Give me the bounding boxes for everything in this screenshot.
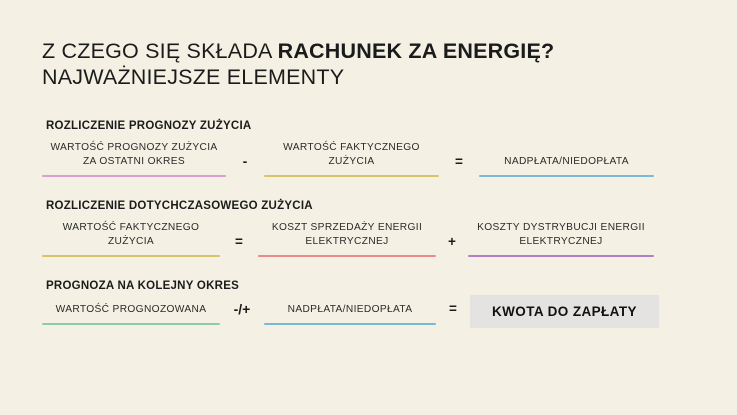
section-rozliczenie-dotychczasowego-zuzycia: ROZLICZENIE DOTYCHCZASOWEGO ZUŻYCIA WART…: [42, 200, 695, 257]
term-label: WARTOŚĆ PROGNOZY ZUŻYCIA ZA OSTATNI OKRE…: [42, 141, 226, 169]
equation-row-1: WARTOŚĆ PROGNOZY ZUŻYCIA ZA OSTATNI OKRE…: [42, 141, 695, 177]
term-label: NADPŁATA/NIEDOPŁATA: [479, 155, 654, 169]
equation-row-2: WARTOŚĆ FAKTYCZNEGO ZUŻYCIA = KOSZT SPRZ…: [42, 221, 695, 257]
term-underline: [479, 175, 654, 177]
operator-plus: +: [436, 221, 468, 249]
operator-equals: =: [220, 221, 258, 249]
term-faktyczne-zuzycie: WARTOŚĆ FAKTYCZNEGO ZUŻYCIA: [264, 141, 439, 177]
term-underline: [42, 323, 220, 325]
page-title: Z CZEGO SIĘ SKŁADA RACHUNEK ZA ENERGIĘ? …: [42, 38, 695, 90]
term-koszt-sprzedazy-energii: KOSZT SPRZEDAŻY ENERGII ELEKTRYCZNEJ: [258, 221, 436, 257]
term-label: WARTOŚĆ FAKTYCZNEGO ZUŻYCIA: [264, 141, 439, 169]
section-prognoza-na-kolejny-okres: PROGNOZA NA KOLEJNY OKRES WARTOŚĆ PROGNO…: [42, 280, 695, 328]
term-underline: [258, 255, 436, 257]
equation-row-3: WARTOŚĆ PROGNOZOWANA -/+ NADPŁATA/NIEDOP…: [42, 301, 695, 328]
term-label: KOSZT SPRZEDAŻY ENERGII ELEKTRYCZNEJ: [258, 221, 436, 249]
title-line-2: NAJWAŻNIEJSZE ELEMENTY: [42, 64, 695, 90]
section-heading-2: ROZLICZENIE DOTYCHCZASOWEGO ZUŻYCIA: [46, 200, 695, 212]
term-label: WARTOŚĆ PROGNOZOWANA: [42, 301, 220, 317]
term-underline: [468, 255, 654, 257]
term-underline: [264, 175, 439, 177]
term-koszty-dystrybucji-energii: KOSZTY DYSTRYBUCJI ENERGII ELEKTRYCZNEJ: [468, 221, 654, 257]
operator-equals: =: [439, 141, 479, 169]
term-faktyczne-zuzycie: WARTOŚĆ FAKTYCZNEGO ZUŻYCIA: [42, 221, 220, 257]
section-heading-1: ROZLICZENIE PROGNOZY ZUŻYCIA: [46, 120, 695, 132]
title-line-1-normal: Z CZEGO SIĘ SKŁADA: [42, 39, 278, 63]
term-label: KOSZTY DYSTRYBUCJI ENERGII ELEKTRYCZNEJ: [468, 221, 654, 249]
section-heading-3: PROGNOZA NA KOLEJNY OKRES: [46, 280, 695, 292]
term-underline: [42, 255, 220, 257]
title-line-1-bold: RACHUNEK ZA ENERGIĘ?: [278, 39, 555, 63]
operator-equals: =: [436, 301, 470, 316]
operator-minus: -: [226, 141, 264, 169]
term-nadplata-niedoplata: NADPŁATA/NIEDOPŁATA: [264, 301, 436, 325]
term-wartosc-prognozowana: WARTOŚĆ PROGNOZOWANA: [42, 301, 220, 325]
result-kwota-do-zaplaty: KWOTA DO ZAPŁATY: [470, 295, 659, 328]
term-underline: [42, 175, 226, 177]
term-underline: [264, 323, 436, 325]
term-prognoza-zuzycia: WARTOŚĆ PROGNOZY ZUŻYCIA ZA OSTATNI OKRE…: [42, 141, 226, 177]
term-label: WARTOŚĆ FAKTYCZNEGO ZUŻYCIA: [42, 221, 220, 249]
section-rozliczenie-prognozy-zuzycia: ROZLICZENIE PROGNOZY ZUŻYCIA WARTOŚĆ PRO…: [42, 120, 695, 177]
operator-minus-plus: -/+: [220, 301, 264, 317]
term-label: NADPŁATA/NIEDOPŁATA: [264, 301, 436, 317]
title-line-1: Z CZEGO SIĘ SKŁADA RACHUNEK ZA ENERGIĘ?: [42, 38, 695, 64]
slide-root: Z CZEGO SIĘ SKŁADA RACHUNEK ZA ENERGIĘ? …: [0, 0, 737, 415]
term-nadplata-niedoplata: NADPŁATA/NIEDOPŁATA: [479, 141, 654, 177]
